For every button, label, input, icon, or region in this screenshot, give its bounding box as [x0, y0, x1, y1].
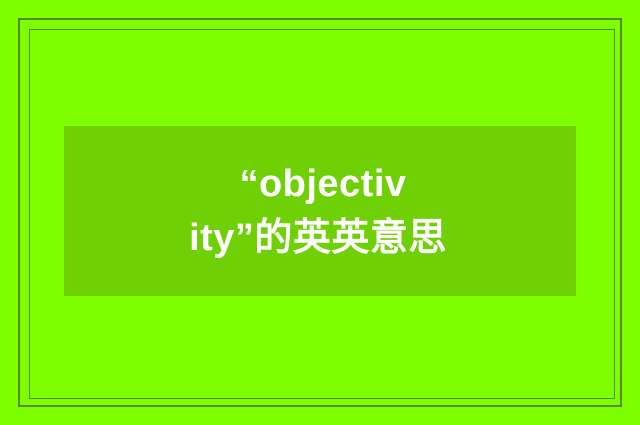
- poster-canvas: “objectiv ity”的英英意思: [0, 0, 640, 425]
- headline-line-1: “objectiv: [233, 157, 406, 211]
- headline-panel: “objectiv ity”的英英意思: [64, 126, 576, 296]
- headline-line-2: ity”的英英意思: [189, 211, 451, 265]
